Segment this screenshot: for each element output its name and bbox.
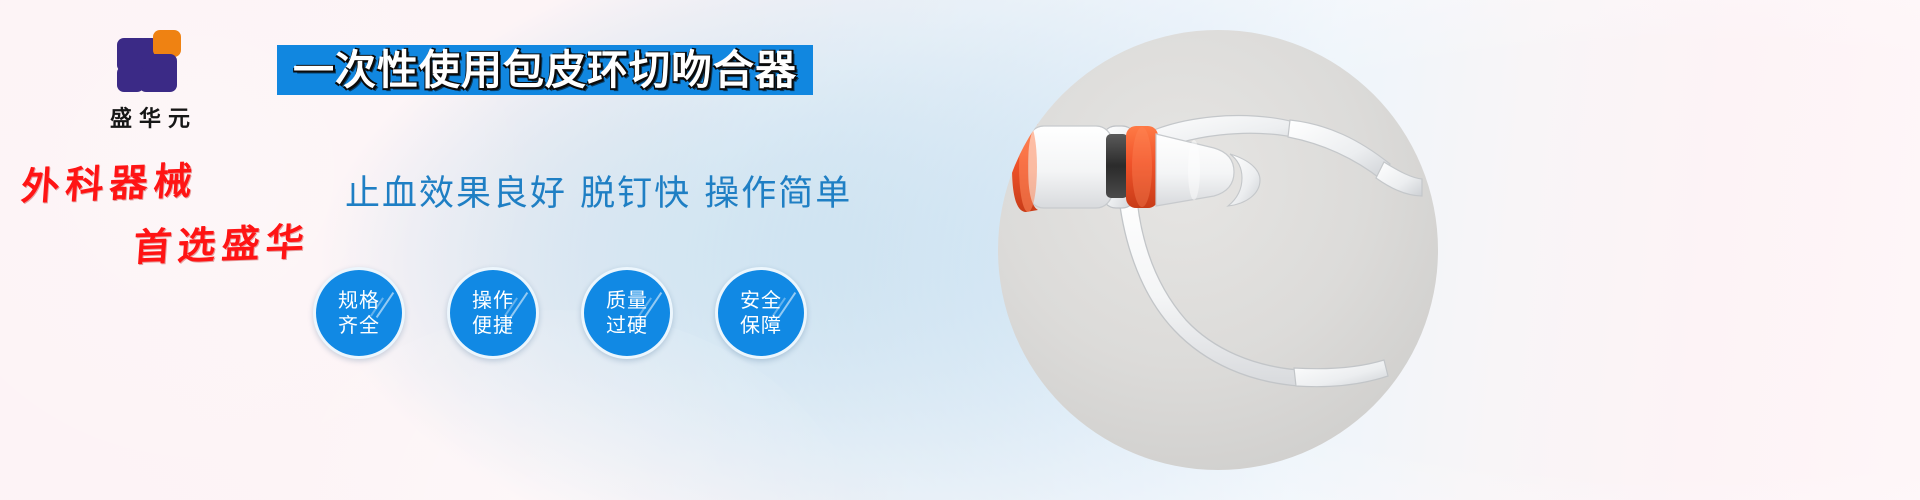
subtitle-text: 止血效果良好 脱钉快 操作简单 (345, 165, 852, 216)
promo-banner: 盛华元 一次性使用包皮环切吻合器 外科器械 首选盛华 止血效果良好 脱钉快 操作… (0, 0, 1920, 500)
product-photo-circle (998, 30, 1438, 470)
headline-title: 一次性使用包皮环切吻合器 (293, 45, 797, 95)
calligraphy-line-1: 外科器械 (20, 144, 355, 210)
badge-label-line2: 过硬 (606, 313, 648, 338)
brand-name: 盛华元 (60, 101, 240, 133)
badge-label-line1: 规格 (338, 288, 380, 313)
badge-label-line1: 质量 (606, 288, 648, 313)
badge-label-line1: 安全 (740, 288, 782, 313)
feature-badge-3[interactable]: 质量 过硬 (581, 267, 673, 359)
feature-badge-2[interactable]: 操作 便捷 (447, 267, 539, 359)
feature-badge-4[interactable]: 安全 保障 (715, 267, 807, 359)
badge-label-line2: 保障 (740, 313, 782, 338)
calligraphy-line-2: 首选盛华 (132, 209, 355, 272)
calligraphy-slogan: 外科器械 首选盛华 (22, 150, 352, 268)
circumcision-stapler-image (998, 30, 1438, 470)
feature-badge-1[interactable]: 规格 齐全 (313, 267, 405, 359)
badge-label-line2: 齐全 (338, 313, 380, 338)
badge-label-line2: 便捷 (472, 313, 514, 338)
feature-badges: 规格 齐全 操作 便捷 质量 过硬 安全 保障 (313, 267, 807, 359)
brand-logo: 盛华元 (60, 30, 240, 133)
headline-bar: 一次性使用包皮环切吻合器 (277, 45, 813, 95)
badge-label-line1: 操作 (472, 288, 514, 313)
logo-blocks-icon (117, 30, 183, 92)
